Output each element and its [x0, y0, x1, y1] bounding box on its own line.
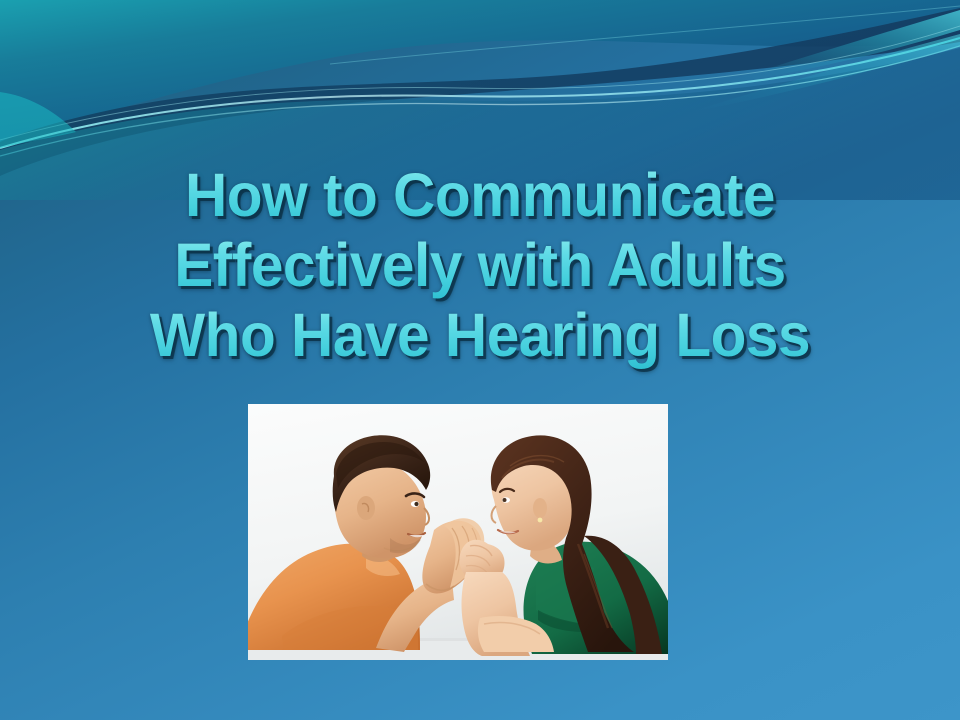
- title-line-3: Who Have Hearing Loss: [19, 300, 941, 370]
- slide-title: How to Communicate Effectively with Adul…: [0, 160, 960, 370]
- conversation-photo: [248, 404, 668, 660]
- photo-illustration: [248, 404, 668, 660]
- title-line-2: Effectively with Adults: [19, 230, 941, 300]
- title-line-1: How to Communicate: [19, 160, 941, 230]
- presentation-slide: How to Communicate Effectively with Adul…: [0, 0, 960, 720]
